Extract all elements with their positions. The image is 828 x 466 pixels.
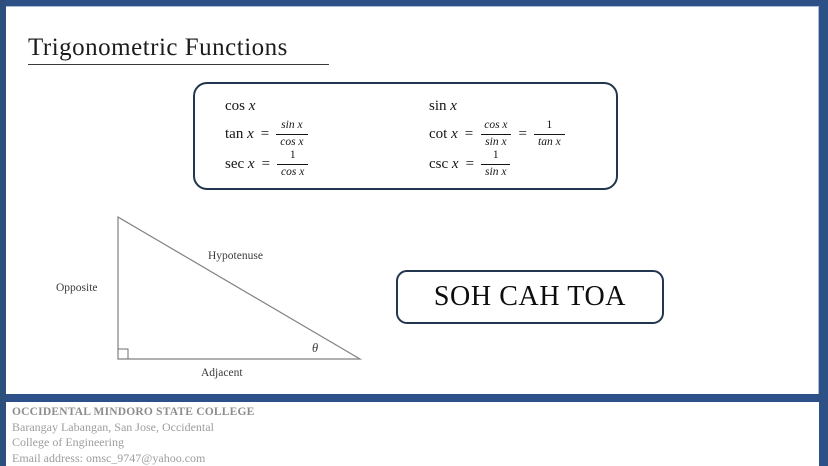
- footer-organization: OCCIDENTAL MINDORO STATE COLLEGE: [12, 405, 255, 420]
- slide-border-right: [819, 0, 828, 466]
- identity-sec: sec x = 1 cos x: [225, 149, 308, 179]
- identities-right-column: sin x cot x = cos x sin x = 1 tan x csc …: [429, 93, 565, 179]
- footer-email: Email address: omsc_9747@yahoo.com: [12, 451, 255, 466]
- identity-csc-equals: =: [466, 156, 474, 173]
- slide-border-inner-top: [6, 6, 819, 7]
- identity-csc-fraction: 1 sin x: [481, 149, 510, 179]
- slide-canvas: Trigonometric Functions cos x tan x = si…: [0, 0, 828, 466]
- footer-address: Barangay Labangan, San Jose, Occidental: [12, 420, 255, 435]
- identity-csc-denominator: sin x: [481, 164, 510, 180]
- page-title-underline: [28, 64, 329, 65]
- right-angle-marker-icon: [118, 349, 128, 359]
- footer-department: College of Engineering: [12, 435, 255, 450]
- triangle-label-hypotenuse: Hypotenuse: [208, 250, 263, 262]
- identity-csc: csc x = 1 sin x: [429, 149, 565, 179]
- identities-left-column: cos x tan x = sin x cos x sec x = 1 cos …: [225, 93, 308, 179]
- mnemonic-text: SOH CAH TOA: [434, 281, 626, 313]
- identity-csc-numerator: 1: [489, 149, 503, 164]
- triangle-label-opposite: Opposite: [56, 282, 98, 294]
- page-title: Trigonometric Functions: [28, 34, 288, 62]
- triangle-label-adjacent: Adjacent: [201, 367, 243, 379]
- footer: OCCIDENTAL MINDORO STATE COLLEGE Baranga…: [6, 402, 819, 466]
- identity-cot: cot x = cos x sin x = 1 tan x: [429, 119, 565, 149]
- identity-cot-numerator-2: 1: [542, 119, 556, 134]
- page-title-text: Trigonometric Functions: [28, 34, 288, 61]
- footer-text-block: OCCIDENTAL MINDORO STATE COLLEGE Baranga…: [12, 405, 255, 466]
- trig-identities-box: cos x tan x = sin x cos x sec x = 1 cos …: [193, 82, 618, 190]
- identity-sin: sin x: [429, 93, 565, 119]
- identity-sec-label: sec x: [225, 156, 255, 173]
- identity-sec-equals: =: [262, 156, 270, 173]
- identity-sin-label: sin x: [429, 98, 457, 115]
- identity-tan-numerator: sin x: [277, 119, 306, 134]
- mnemonic-box: SOH CAH TOA: [396, 270, 664, 324]
- identity-tan-equals: =: [261, 126, 269, 143]
- identity-cot-denominator-1: sin x: [481, 134, 510, 150]
- identity-sec-fraction: 1 cos x: [277, 149, 308, 179]
- identity-tan-fraction: sin x cos x: [276, 119, 307, 149]
- triangle-label-theta: θ: [312, 341, 318, 356]
- identity-sec-numerator: 1: [286, 149, 300, 164]
- identity-cot-fraction-2: 1 tan x: [534, 119, 565, 149]
- identity-cot-equals: =: [465, 126, 473, 143]
- identity-cot-label: cot x: [429, 126, 458, 143]
- identity-tan: tan x = sin x cos x: [225, 119, 308, 149]
- identity-sec-denominator: cos x: [277, 164, 308, 180]
- right-triangle-diagram: Opposite Hypotenuse Adjacent θ: [40, 205, 380, 390]
- identity-cot-numerator-1: cos x: [480, 119, 511, 134]
- identity-cot-fraction-1: cos x sin x: [480, 119, 511, 149]
- triangle-shape: [118, 217, 360, 359]
- identity-cot-denominator-2: tan x: [534, 134, 565, 150]
- identity-tan-label: tan x: [225, 126, 254, 143]
- identity-cos-label: cos x: [225, 98, 255, 115]
- identity-cot-equals-2: =: [519, 126, 527, 143]
- identity-cos: cos x: [225, 93, 308, 119]
- identity-csc-label: csc x: [429, 156, 459, 173]
- footer-divider: [6, 394, 819, 402]
- triangle-svg: [40, 205, 380, 390]
- identity-tan-denominator: cos x: [276, 134, 307, 150]
